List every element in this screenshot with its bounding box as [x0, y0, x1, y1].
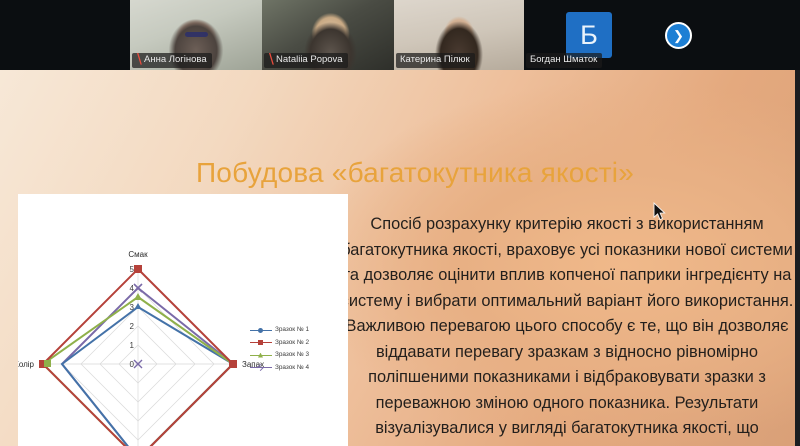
chevron-right-icon[interactable]: ❯ [665, 22, 692, 49]
axis-label-smak: Смак [128, 250, 148, 259]
marker-s3-kolir [44, 360, 51, 367]
participant-nameplate-3: Катерина Пілюк [396, 53, 475, 68]
legend-marker-4 [250, 364, 272, 371]
axis-label-kolir: Колір [18, 360, 35, 369]
radar-chart-svg: 5 4 3 2 1 0 Смак Запах Консистенція Колі… [18, 194, 348, 446]
participant-name-2: Nataliia Popova [276, 54, 343, 66]
chart-legend: Зразок № 1 Зразок № 2 Зразок № 3 [250, 326, 309, 372]
legend-marker-2 [250, 339, 272, 346]
filmstrip-left-padding [0, 0, 130, 70]
marker-s2-zapah [229, 360, 237, 368]
tick-2: 2 [130, 322, 135, 331]
legend-label-3: Зразок № 3 [275, 351, 309, 359]
radar-series-1 [62, 307, 233, 446]
video-filmstrip: ╲ Анна Логінова ╲ Nataliia Popova Катери… [0, 0, 800, 70]
legend-item-1: Зразок № 1 [250, 326, 309, 334]
participant-tile-1[interactable]: ╲ Анна Логінова [130, 0, 262, 70]
marker-s2-smak [134, 265, 142, 273]
tick-3: 3 [130, 303, 135, 312]
radar-tick-labels: 5 4 3 2 1 0 [130, 265, 135, 369]
legend-label-1: Зразок № 1 [275, 326, 309, 334]
legend-item-2: Зразок № 2 [250, 339, 309, 347]
tick-5: 5 [130, 265, 135, 274]
participant-name-4: Богдан Шматок [530, 54, 597, 66]
participant-name-3: Катерина Пілюк [400, 54, 470, 66]
mic-muted-icon: ╲ [267, 54, 275, 66]
avatar: Б [566, 12, 612, 58]
participant-tile-2[interactable]: ╲ Nataliia Popova [262, 0, 394, 70]
legend-marker-3 [250, 352, 272, 359]
tick-0: 0 [130, 360, 135, 369]
marker-s1-smak [135, 303, 142, 309]
participant-tile-4[interactable]: Б Богдан Шматок [524, 0, 654, 70]
page-title: Побудова «багатокутника якості» [150, 156, 680, 190]
legend-label-4: Зразок № 4 [275, 364, 309, 372]
tick-1: 1 [130, 341, 135, 350]
participant-tile-3[interactable]: Катерина Пілюк [394, 0, 524, 70]
participant-nameplate-4: Богдан Шматок [526, 53, 602, 68]
participant-name-1: Анна Логінова [144, 54, 207, 66]
legend-item-3: Зразок № 3 [250, 351, 309, 359]
participant-nameplate-1: ╲ Анна Логінова [132, 53, 212, 68]
mic-muted-icon: ╲ [135, 54, 143, 66]
screen-root: ╲ Анна Логінова ╲ Nataliia Popova Катери… [0, 0, 800, 446]
marker-s3-smak [134, 293, 142, 300]
tick-4: 4 [130, 284, 135, 293]
slide-body-text: Спосіб розрахунку критерію якості з вико… [338, 212, 796, 446]
legend-item-4: Зразок № 4 [250, 364, 309, 372]
participant-nameplate-2: ╲ Nataliia Popova [264, 53, 348, 68]
presentation-slide: Побудова «багатокутника якості» Спосіб р… [0, 70, 800, 446]
legend-marker-1 [250, 327, 272, 334]
quality-polygon-chart: 5 4 3 2 1 0 Смак Запах Консистенція Колі… [18, 194, 348, 446]
legend-label-2: Зразок № 2 [275, 339, 309, 347]
